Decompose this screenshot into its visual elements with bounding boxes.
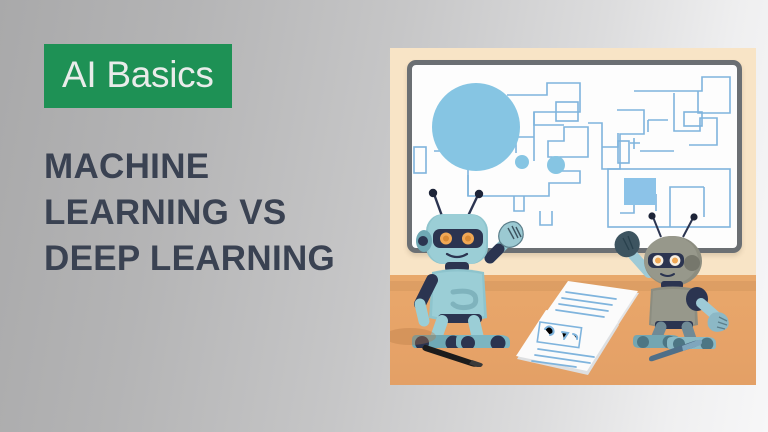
whiteboard-filled-box-icon bbox=[624, 178, 656, 205]
headline-line-2: LEARNING VS bbox=[44, 190, 364, 236]
illustration-panel bbox=[390, 48, 756, 385]
eyebrow-badge: AI Basics bbox=[44, 44, 232, 108]
slide-canvas: AI Basics MACHINE LEARNING VS DEEP LEARN… bbox=[0, 0, 768, 432]
paper-sheet-front bbox=[516, 310, 620, 381]
pen-blue bbox=[648, 338, 704, 369]
headline-line-3: DEEP LEARNING bbox=[44, 236, 364, 282]
page-title: MACHINE LEARNING VS DEEP LEARNING bbox=[44, 144, 364, 282]
headline-line-1: MACHINE bbox=[44, 144, 364, 190]
text-column: AI Basics MACHINE LEARNING VS DEEP LEARN… bbox=[44, 44, 364, 282]
robot-right-hand-lowered bbox=[708, 312, 729, 332]
pen-black bbox=[422, 341, 484, 372]
robot-left-hand bbox=[499, 222, 524, 248]
whiteboard-circle-icon bbox=[432, 83, 520, 171]
